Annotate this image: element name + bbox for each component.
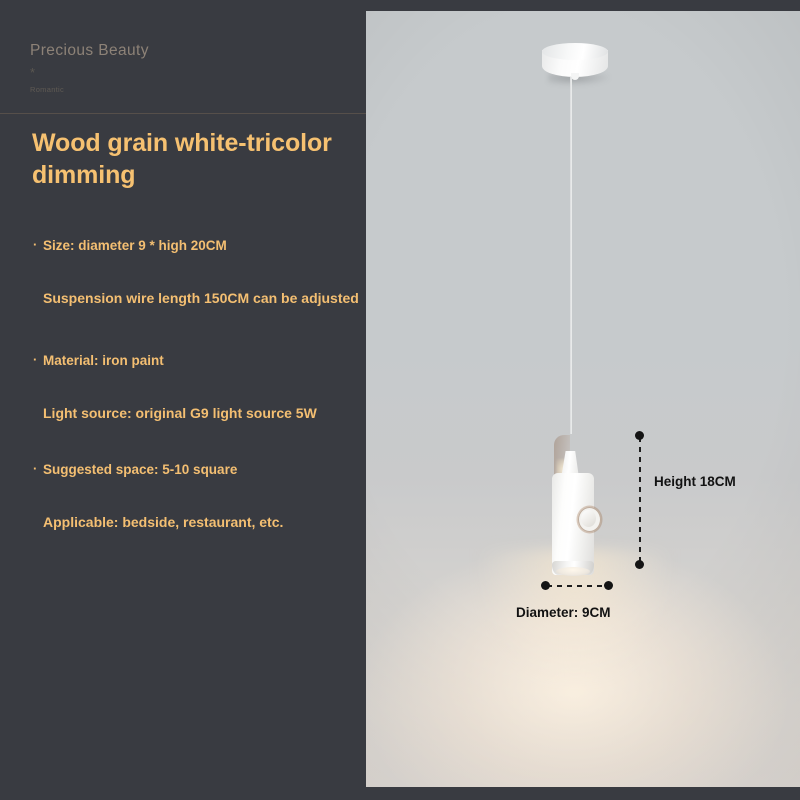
page-title: Wood grain white-tricolor dimming [32,128,342,192]
spec-item: ·Light source: original G9 light source … [30,404,366,424]
height-dimension-label: Height 18CM [654,474,736,489]
spec-text: Light source: original G9 light source 5… [43,404,366,424]
brand-block: Precious Beauty * Romantic [30,42,330,94]
spec-bullet-icon: · [30,236,43,255]
spec-text: Material: iron paint [43,351,366,370]
height-dimension-line [634,431,648,569]
wall-vignette [366,11,800,787]
lamp-fixture [532,429,612,577]
spec-bullet-icon: · [30,351,43,370]
height-dashed-line [639,437,641,563]
height-endpoint-top [635,431,644,440]
spec-bullet-icon: · [30,460,43,479]
spec-text: Suspension wire length 150CM can be adju… [43,289,366,309]
canopy-top [542,43,608,60]
ceiling-canopy [538,42,612,86]
wood-cutout-gloss [581,510,596,527]
product-photo: Height 18CM Diameter: 9CM [366,11,800,787]
spec-item: ·Suggested space: 5-10 square [30,460,366,479]
info-panel: Precious Beauty * Romantic Wood grain wh… [0,0,366,800]
spec-item: ·Applicable: bedside, restaurant, etc. [30,513,366,533]
brand-tagline: Romantic [30,85,330,94]
diameter-endpoint-right [604,581,613,590]
spec-list: ·Size: diameter 9 * high 20CM·Suspension… [30,236,366,533]
spec-text: Applicable: bedside, restaurant, etc. [43,513,366,533]
spec-text: Suggested space: 5-10 square [43,460,366,479]
diameter-endpoint-left [541,581,550,590]
spec-item: ·Size: diameter 9 * high 20CM [30,236,366,255]
height-endpoint-bottom [635,560,644,569]
spec-item: ·Material: iron paint [30,351,366,370]
diameter-dashed-line [547,585,608,587]
suspension-wire [570,77,572,434]
star-icon: * [30,69,330,79]
diameter-dimension-label: Diameter: 9CM [516,605,611,620]
brand-name: Precious Beauty [30,42,330,60]
header-divider [0,113,366,114]
spec-item: ·Suspension wire length 150CM can be adj… [30,289,366,309]
spec-text: Size: diameter 9 * high 20CM [43,236,366,255]
shade-opening [556,567,590,576]
diameter-dimension-line [541,581,613,591]
